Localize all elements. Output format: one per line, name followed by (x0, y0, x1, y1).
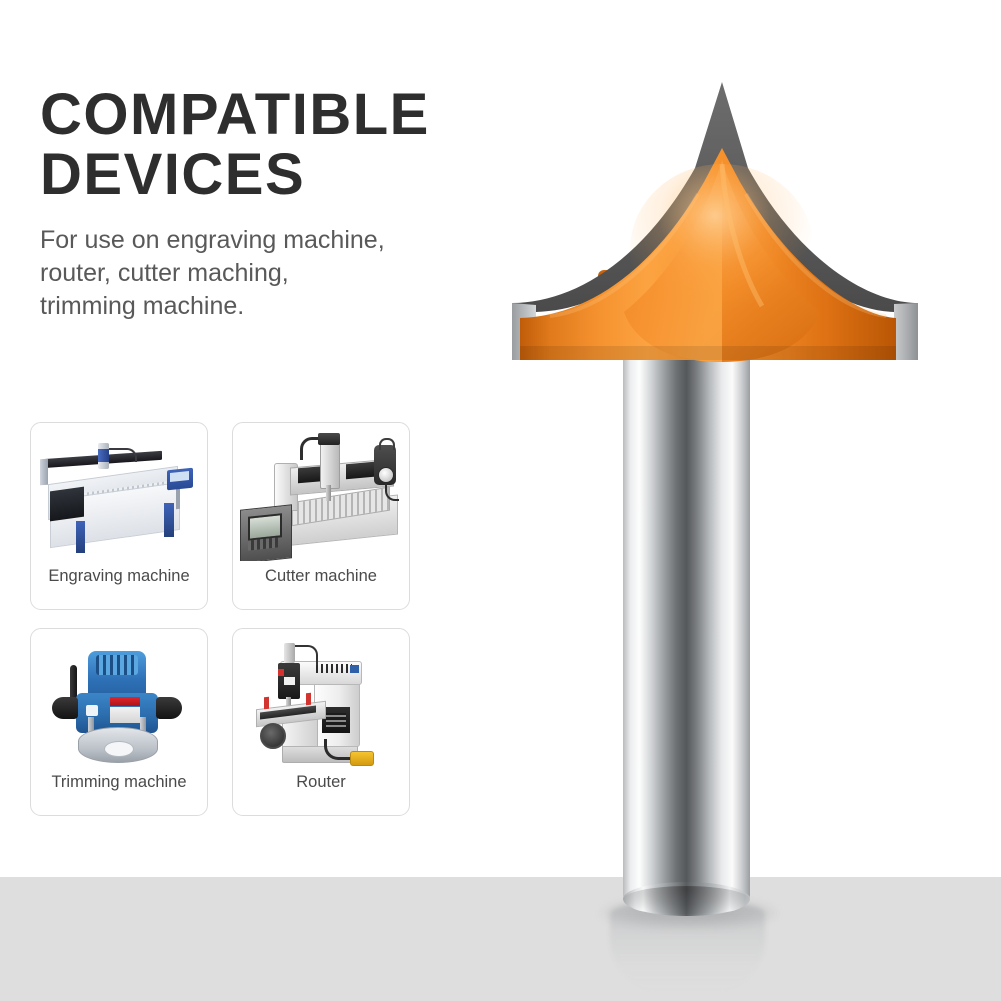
device-card-label: Trimming machine (31, 771, 207, 793)
page-title-line-2: DEVICES (40, 145, 510, 205)
device-card-label: Engraving machine (31, 565, 207, 587)
device-card-row-bottom: Trimming machine (30, 628, 430, 816)
cnc-engraving-table-icon (36, 429, 202, 561)
device-card-cutter-machine[interactable]: Cutter machine (232, 422, 410, 610)
page-subtitle: For use on engraving machine, router, cu… (40, 224, 460, 323)
cnc-machining-center-icon (238, 429, 404, 561)
router-bit-product-image (490, 60, 940, 950)
product-marketing-image: COMPATIBLE DEVICES For use on engraving … (0, 0, 1001, 1001)
router-bit-shank (623, 332, 750, 912)
device-card-row-top: Engraving machine (30, 422, 430, 610)
page-title-line-1: COMPATIBLE (40, 82, 430, 147)
shank-bottom-shading (623, 886, 750, 914)
page-title: COMPATIBLE DEVICES (40, 85, 510, 205)
device-card-label: Cutter machine (233, 565, 409, 587)
router-bit-cutting-head (490, 60, 940, 400)
spindle-moulder-icon (238, 635, 404, 767)
device-card-trimming-machine[interactable]: Trimming machine (30, 628, 208, 816)
device-card-router[interactable]: Router (232, 628, 410, 816)
device-card-engraving-machine[interactable]: Engraving machine (30, 422, 208, 610)
device-card-label: Router (233, 771, 409, 793)
plunge-router-icon (36, 635, 202, 767)
compatible-devices-grid: Engraving machine (30, 422, 430, 834)
